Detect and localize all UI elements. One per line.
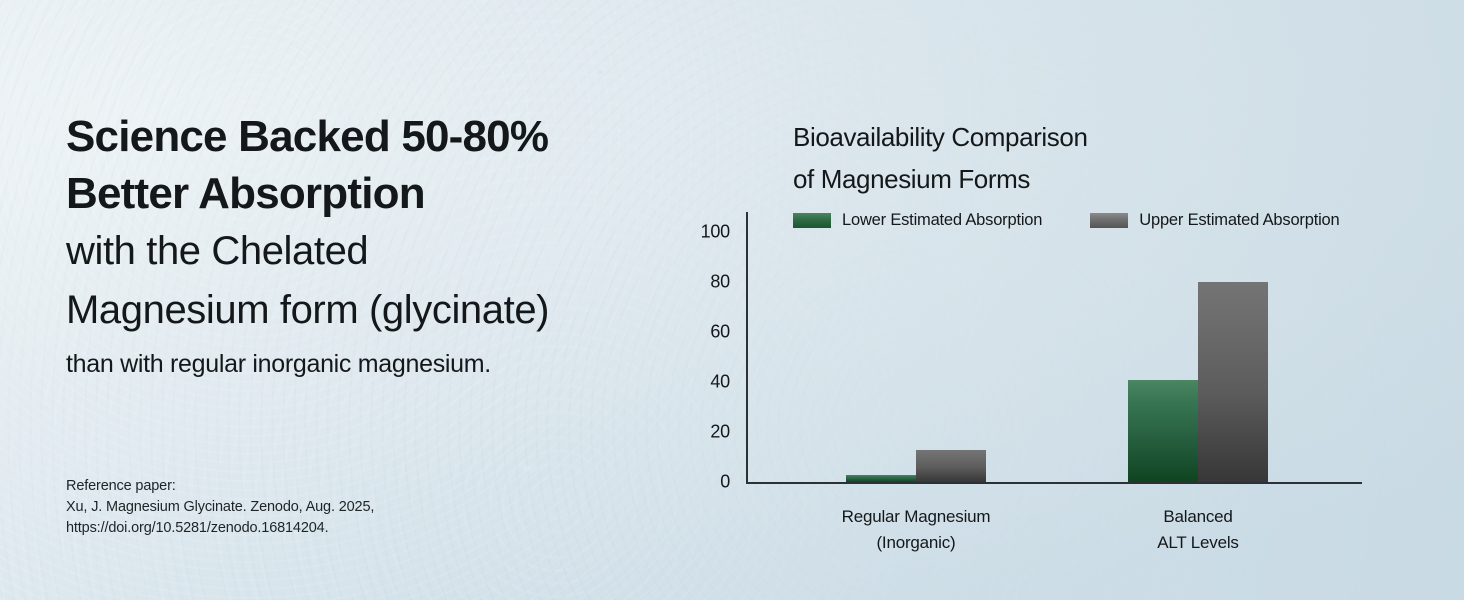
chart-plot-area: 100806040200 Regular Magnesium(Inorganic…	[746, 212, 1362, 484]
reference-doi-link[interactable]: https://doi.org/10.5281/zenodo.16814204.	[66, 518, 374, 539]
bar-lower-group-1[interactable]	[846, 475, 916, 483]
hero-copy: Science Backed 50-80% Better Absorption …	[66, 108, 666, 381]
chart-title-line-1: Bioavailability Comparison	[793, 116, 1088, 158]
bar-upper-group-2[interactable]	[1198, 282, 1268, 482]
headline-line-1: Science Backed 50-80%	[66, 108, 666, 165]
x-category-label-line: (Inorganic)	[842, 530, 991, 556]
headline-line-2: Better Absorption	[66, 165, 666, 222]
x-category-label-line: Regular Magnesium	[842, 504, 991, 530]
x-category-label-2: BalancedALT Levels	[1157, 504, 1238, 556]
x-category-label-line: Balanced	[1157, 504, 1238, 530]
chart-title: Bioavailability Comparison of Magnesium …	[793, 116, 1088, 200]
reference-citation-text: Xu, J. Magnesium Glycinate. Zenodo, Aug.…	[66, 497, 374, 518]
chart-title-line-2: of Magnesium Forms	[793, 158, 1088, 200]
y-tick-label: 60	[670, 322, 730, 343]
reference-label: Reference paper:	[66, 476, 374, 497]
x-category-label-1: Regular Magnesium(Inorganic)	[842, 504, 991, 556]
y-axis-line	[746, 212, 748, 484]
y-tick-label: 40	[670, 372, 730, 393]
headline-line-3: with the Chelated	[66, 222, 666, 281]
y-tick-label: 20	[670, 422, 730, 443]
headline-line-4: Magnesium form (glycinate)	[66, 281, 666, 340]
x-axis-line	[746, 482, 1362, 484]
y-tick-label: 80	[670, 272, 730, 293]
y-tick-label: 100	[670, 222, 730, 243]
bioavailability-chart: Bioavailability Comparison of Magnesium …	[686, 108, 1386, 578]
bar-upper-group-1[interactable]	[916, 450, 986, 483]
reference-citation: Reference paper: Xu, J. Magnesium Glycin…	[66, 476, 374, 539]
bar-lower-group-2[interactable]	[1128, 380, 1198, 483]
x-category-label-line: ALT Levels	[1157, 530, 1238, 556]
y-tick-label: 0	[670, 472, 730, 493]
hero-subcopy: than with regular inorganic magnesium.	[66, 347, 666, 381]
